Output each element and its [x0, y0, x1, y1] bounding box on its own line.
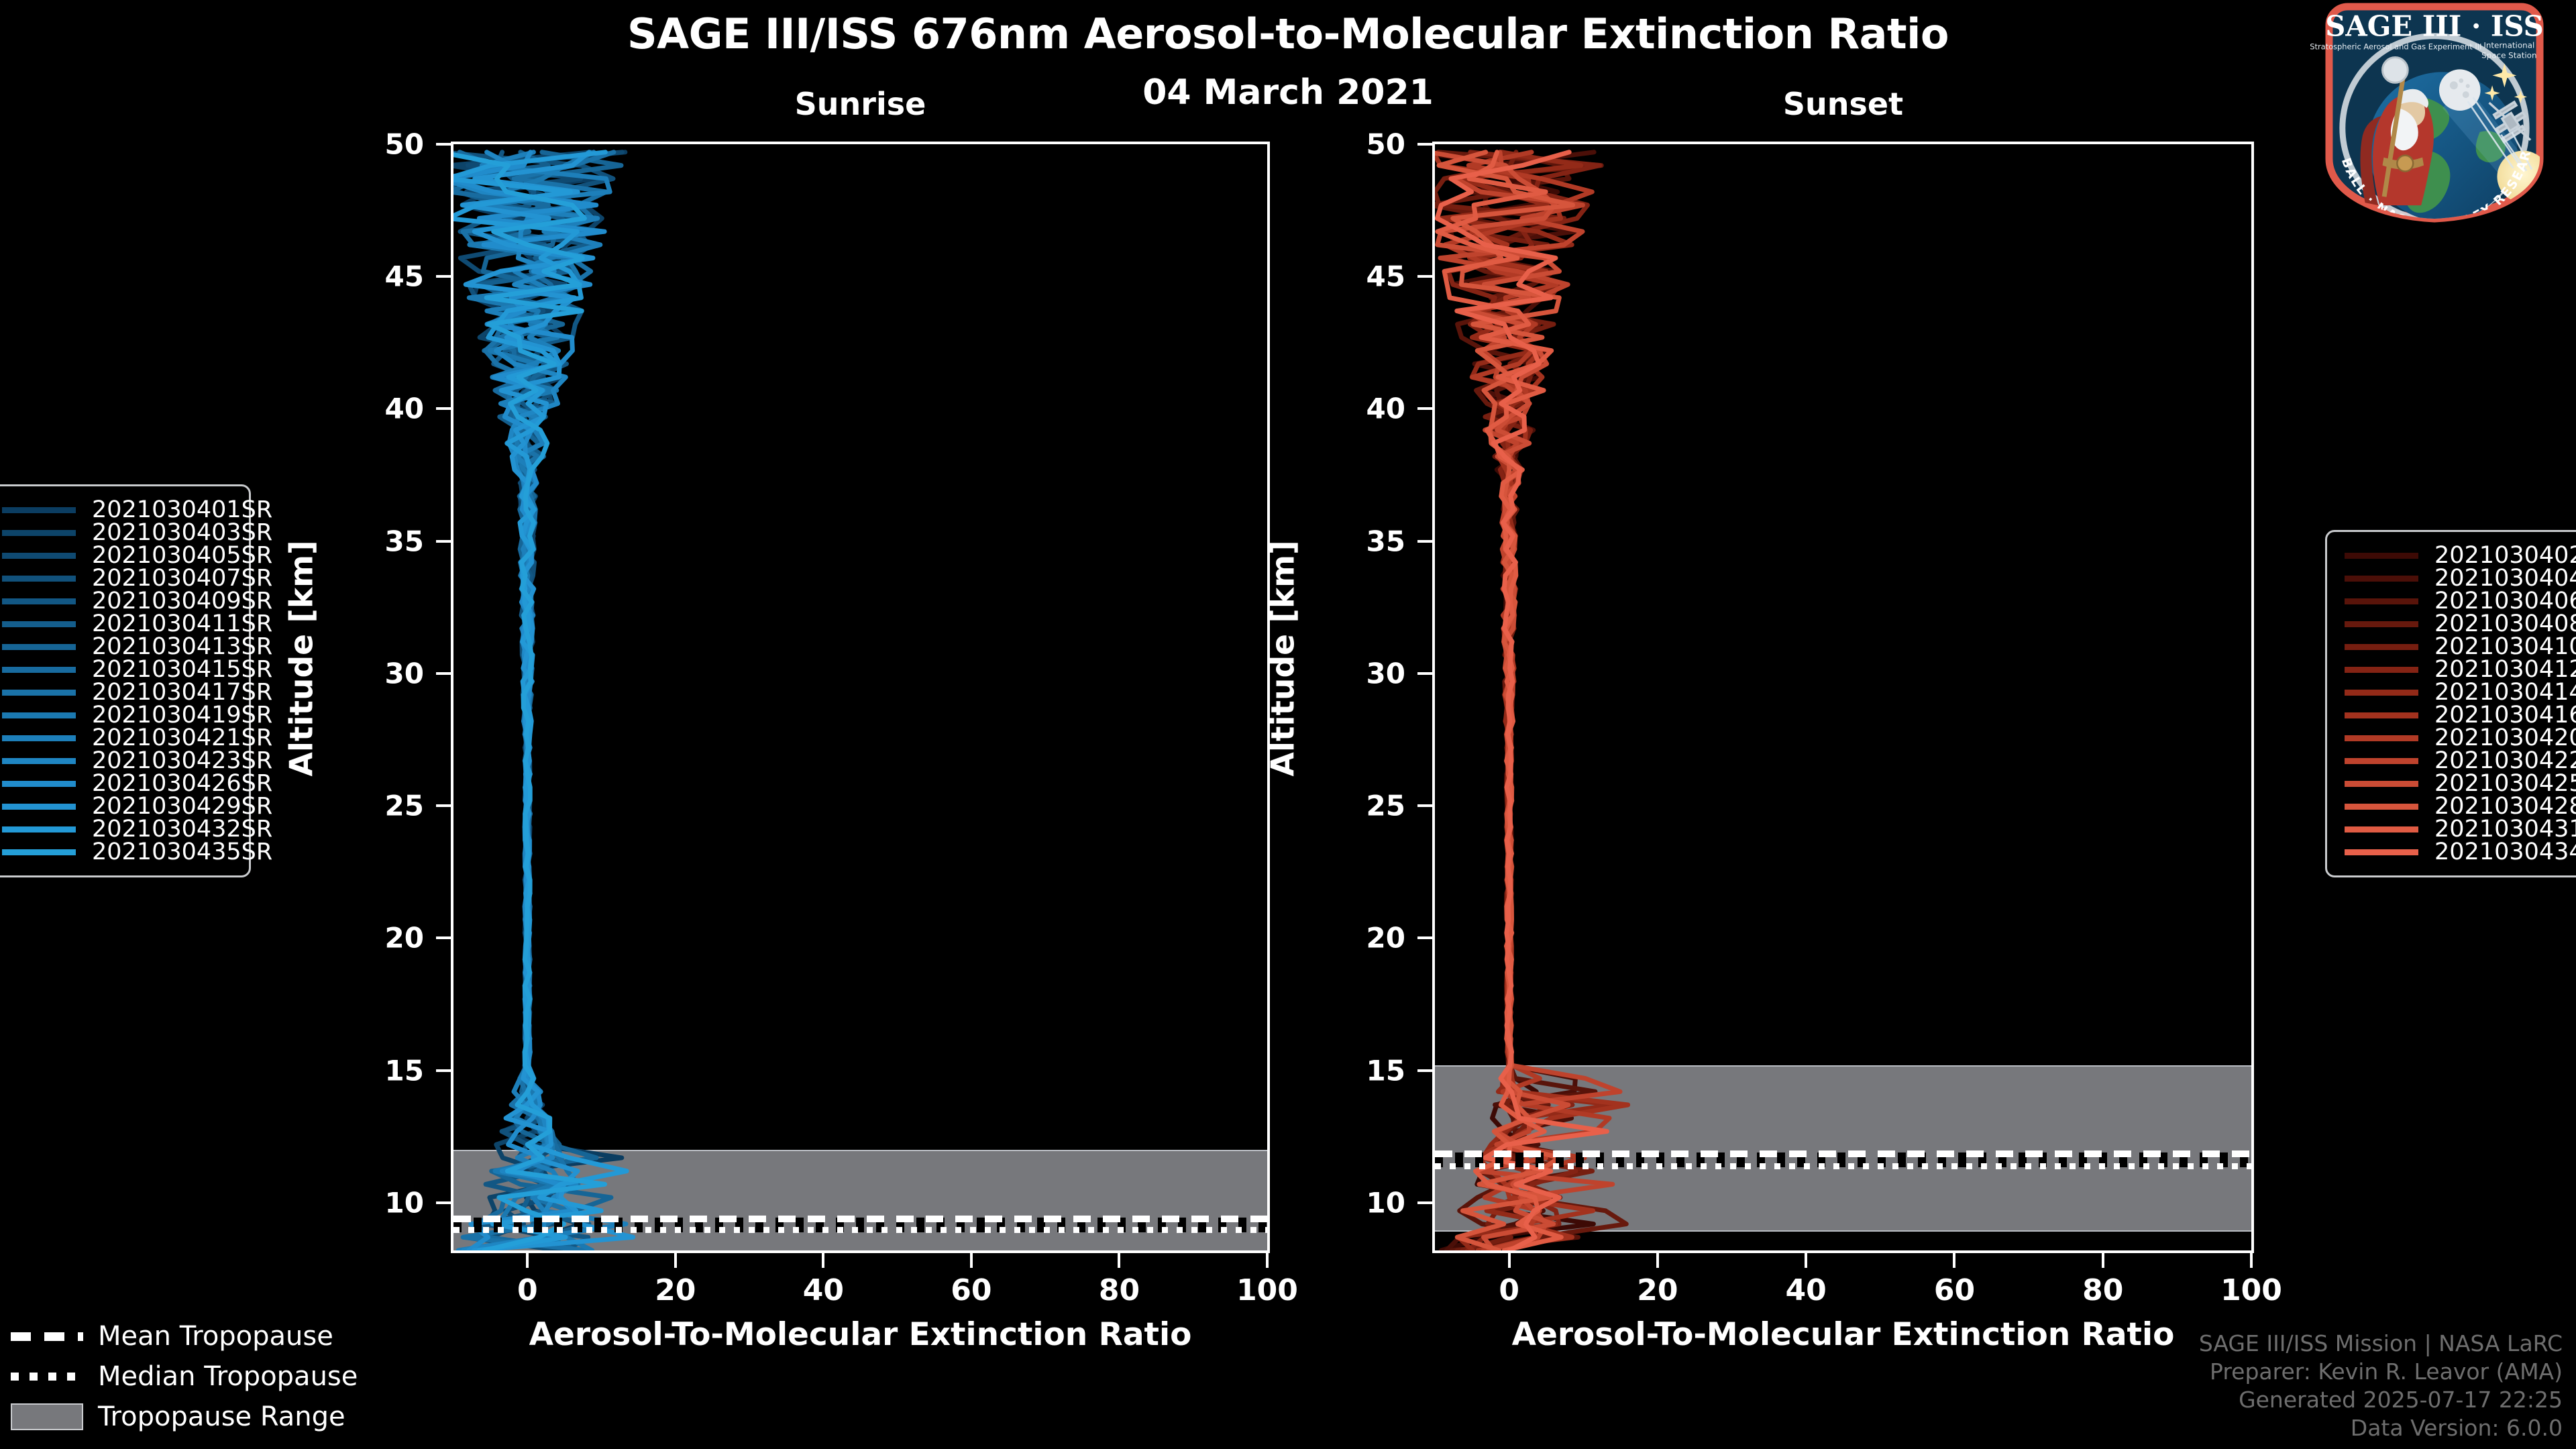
legend-label-median: Median Tropopause — [98, 1361, 358, 1392]
y-axis-tick — [436, 275, 451, 278]
y-axis-tick-label: 15 — [317, 1054, 424, 1087]
mean-tropopause-line — [453, 1216, 1267, 1222]
y-axis-tick-label: 50 — [1298, 128, 1405, 161]
legend-item-label: 2021030434SS — [2434, 839, 2576, 865]
legend-color-swatch — [2, 576, 76, 582]
legend-color-swatch — [2345, 781, 2418, 787]
svg-text:International: International — [2483, 41, 2534, 50]
credit-line-preparer: Preparer: Kevin R. Leavor (AMA) — [2199, 1358, 2563, 1386]
credit-line-generated: Generated 2025-07-17 22:25 — [2199, 1386, 2563, 1414]
y-axis-tick — [436, 540, 451, 543]
y-axis-tick — [436, 143, 451, 146]
legend-color-swatch — [2, 781, 76, 787]
axis-y-title-sunrise: Altitude [km] — [284, 616, 321, 777]
x-axis-tick — [526, 1253, 529, 1268]
legend-item[interactable]: 2021030406SS — [2327, 590, 2576, 612]
x-axis-tick — [1953, 1253, 1955, 1268]
plot-panel-sunrise — [451, 142, 1270, 1253]
legend-item-tropopause-range: Tropopause Range — [11, 1397, 386, 1437]
y-axis-tick — [436, 1069, 451, 1072]
legend-item[interactable]: 2021030409SR — [0, 590, 249, 612]
y-axis-tick-label: 25 — [317, 790, 424, 822]
mean-tropopause-line — [1435, 1150, 2251, 1157]
x-axis-tick — [1805, 1253, 1807, 1268]
y-axis-tick-label: 40 — [317, 392, 424, 425]
legend-item[interactable]: 2021030414SS — [2327, 681, 2576, 704]
legend-color-swatch — [2, 530, 76, 536]
y-axis-tick — [436, 407, 451, 410]
profile-traces — [1435, 144, 2251, 1250]
legend-item-mean-tropopause: Mean Tropopause — [11, 1316, 386, 1356]
legend-sunset: 2021030402SS2021030404SS2021030406SS2021… — [2325, 530, 2576, 877]
y-axis-tick — [1417, 275, 1432, 278]
dotted-line-icon — [11, 1373, 83, 1381]
x-axis-tick-label: 40 — [769, 1273, 877, 1307]
legend-color-swatch — [2345, 804, 2418, 810]
legend-item[interactable]: 2021030416SS — [2327, 704, 2576, 727]
y-axis-tick-label: 45 — [1298, 260, 1405, 293]
tropopause-legend: Mean Tropopause Median Tropopause Tropop… — [11, 1316, 386, 1437]
legend-item[interactable]: 2021030407SR — [0, 567, 249, 590]
x-axis-tick-label: 100 — [1214, 1273, 1321, 1307]
y-axis-tick — [436, 804, 451, 807]
svg-text:Stratospheric Aerosol and Gas: Stratospheric Aerosol and Gas Experiment… — [2310, 42, 2481, 52]
y-axis-tick — [436, 1201, 451, 1204]
legend-color-swatch — [2, 826, 76, 833]
legend-color-swatch — [2345, 667, 2418, 673]
median-tropopause-line — [1435, 1163, 2251, 1169]
svg-text:Space Station: Space Station — [2481, 50, 2536, 60]
x-axis-tick — [2250, 1253, 2253, 1268]
y-axis-tick — [1417, 407, 1432, 410]
legend-color-swatch — [2, 712, 76, 718]
legend-color-swatch — [2345, 644, 2418, 650]
y-axis-tick-label: 45 — [317, 260, 424, 293]
legend-item[interactable]: 2021030422SS — [2327, 749, 2576, 772]
svg-text:SAGE III · ISS: SAGE III · ISS — [2325, 10, 2544, 43]
x-axis-tick — [1266, 1253, 1269, 1268]
legend-item[interactable]: 2021030434SS — [2327, 841, 2576, 863]
legend-item[interactable]: 2021030411SR — [0, 612, 249, 635]
legend-item[interactable]: 2021030415SR — [0, 658, 249, 681]
legend-color-swatch — [2345, 598, 2418, 604]
dashed-line-icon — [11, 1332, 83, 1341]
plot-panel-sunset — [1432, 142, 2254, 1253]
axis-x-title-sunset: Aerosol-To-Molecular Extinction Ratio — [1432, 1316, 2254, 1353]
panel-label-sunset: Sunset — [1432, 86, 2254, 122]
y-axis-tick-label: 20 — [1298, 922, 1405, 955]
legend-item[interactable]: 2021030402SS — [2327, 544, 2576, 567]
legend-item[interactable]: 2021030419SR — [0, 704, 249, 727]
axis-y-title-sunset: Altitude [km] — [1265, 616, 1302, 777]
legend-item[interactable]: 2021030420SS — [2327, 727, 2576, 749]
profile-traces — [453, 144, 1267, 1250]
credit-line-mission: SAGE III/ISS Mission | NASA LaRC — [2199, 1330, 2563, 1358]
page-title: SAGE III/ISS 676nm Aerosol-to-Molecular … — [0, 9, 2576, 58]
legend-item-median-tropopause: Median Tropopause — [11, 1356, 386, 1397]
legend-color-swatch — [2345, 553, 2418, 559]
legend-color-swatch — [2, 804, 76, 810]
credit-line-version: Data Version: 6.0.0 — [2199, 1414, 2563, 1442]
y-axis-tick — [436, 672, 451, 675]
y-axis-tick-label: 20 — [317, 922, 424, 955]
legend-label-range: Tropopause Range — [98, 1401, 345, 1432]
filled-band-icon — [11, 1403, 83, 1430]
y-axis-tick — [1417, 1201, 1432, 1204]
legend-item[interactable]: 2021030403SR — [0, 521, 249, 544]
legend-color-swatch — [2, 553, 76, 559]
legend-label-mean: Mean Tropopause — [98, 1321, 333, 1352]
legend-color-swatch — [2, 735, 76, 741]
legend-color-swatch — [2, 507, 76, 513]
x-axis-tick-label: 20 — [1604, 1273, 1711, 1307]
x-axis-tick-label: 60 — [1900, 1273, 2008, 1307]
y-axis-tick-label: 25 — [1298, 790, 1405, 822]
y-axis-tick-label: 35 — [317, 525, 424, 557]
y-axis-tick-label: 15 — [1298, 1054, 1405, 1087]
y-axis-tick-label: 50 — [317, 128, 424, 161]
y-axis-tick-label: 10 — [317, 1186, 424, 1219]
x-axis-tick-label: 0 — [474, 1273, 581, 1307]
x-axis-tick — [2102, 1253, 2104, 1268]
y-axis-tick — [1417, 672, 1432, 675]
legend-item[interactable]: 2021030404SS — [2327, 567, 2576, 590]
x-axis-tick-label: 20 — [622, 1273, 729, 1307]
y-axis-tick — [1417, 804, 1432, 807]
x-axis-tick — [674, 1253, 677, 1268]
legend-item[interactable]: 2021030413SR — [0, 635, 249, 658]
legend-item[interactable]: 2021030428SS — [2327, 795, 2576, 818]
legend-color-swatch — [2345, 576, 2418, 582]
panel-label-sunrise: Sunrise — [451, 86, 1270, 122]
x-axis-tick — [970, 1253, 973, 1268]
x-axis-tick — [1118, 1253, 1120, 1268]
legend-item[interactable]: 2021030426SR — [0, 772, 249, 795]
legend-color-swatch — [2345, 758, 2418, 764]
legend-item[interactable]: 2021030432SR — [0, 818, 249, 841]
legend-color-swatch — [2, 667, 76, 673]
y-axis-tick — [1417, 143, 1432, 146]
legend-color-swatch — [2345, 621, 2418, 627]
legend-item[interactable]: 2021030423SR — [0, 749, 249, 772]
y-axis-tick-label: 40 — [1298, 392, 1405, 425]
legend-item[interactable]: 2021030425SS — [2327, 772, 2576, 795]
x-axis-tick-label: 80 — [2049, 1273, 2157, 1307]
x-axis-tick — [1656, 1253, 1659, 1268]
x-axis-tick — [1508, 1253, 1511, 1268]
legend-color-swatch — [2, 644, 76, 650]
y-axis-tick — [1417, 1069, 1432, 1072]
legend-item[interactable]: 2021030410SS — [2327, 635, 2576, 658]
x-axis-tick — [822, 1253, 824, 1268]
median-tropopause-line — [453, 1227, 1267, 1233]
x-axis-tick-label: 40 — [1752, 1273, 1860, 1307]
axis-x-title-sunrise: Aerosol-To-Molecular Extinction Ratio — [451, 1316, 1270, 1353]
legend-item[interactable]: 2021030435SR — [0, 841, 249, 863]
legend-color-swatch — [2345, 735, 2418, 741]
legend-item[interactable]: 2021030405SR — [0, 544, 249, 567]
legend-color-swatch — [2, 758, 76, 764]
y-axis-tick — [436, 936, 451, 939]
y-axis-tick-label: 35 — [1298, 525, 1405, 557]
legend-item[interactable]: 2021030408SS — [2327, 612, 2576, 635]
x-axis-tick-label: 0 — [1456, 1273, 1563, 1307]
legend-color-swatch — [2345, 849, 2418, 855]
y-axis-tick — [1417, 540, 1432, 543]
legend-item[interactable]: 2021030431SS — [2327, 818, 2576, 841]
legend-color-swatch — [2, 598, 76, 604]
legend-item[interactable]: 2021030401SR — [0, 498, 249, 521]
legend-color-swatch — [2345, 690, 2418, 696]
legend-item[interactable]: 2021030429SR — [0, 795, 249, 818]
legend-color-swatch — [2345, 826, 2418, 833]
credits-block: SAGE III/ISS Mission | NASA LaRC Prepare… — [2199, 1330, 2563, 1442]
legend-sunrise: 2021030401SR2021030403SR2021030405SR2021… — [0, 484, 251, 877]
sage-iii-iss-mission-patch-logo: BALL · NASA LANGLEY RESEARCH CENTER · TA… — [2301, 1, 2568, 223]
x-axis-tick-label: 80 — [1065, 1273, 1173, 1307]
y-axis-tick-label: 30 — [317, 657, 424, 690]
legend-item[interactable]: 2021030412SS — [2327, 658, 2576, 681]
legend-item[interactable]: 2021030421SR — [0, 727, 249, 749]
legend-color-swatch — [2, 849, 76, 855]
legend-item-label: 2021030435SR — [92, 839, 272, 865]
legend-color-swatch — [2345, 712, 2418, 718]
x-axis-tick-label: 100 — [2198, 1273, 2305, 1307]
legend-item[interactable]: 2021030417SR — [0, 681, 249, 704]
legend-color-swatch — [2, 690, 76, 696]
y-axis-tick-label: 10 — [1298, 1186, 1405, 1219]
y-axis-tick-label: 30 — [1298, 657, 1405, 690]
legend-color-swatch — [2, 621, 76, 627]
y-axis-tick — [1417, 936, 1432, 939]
x-axis-tick-label: 60 — [918, 1273, 1025, 1307]
